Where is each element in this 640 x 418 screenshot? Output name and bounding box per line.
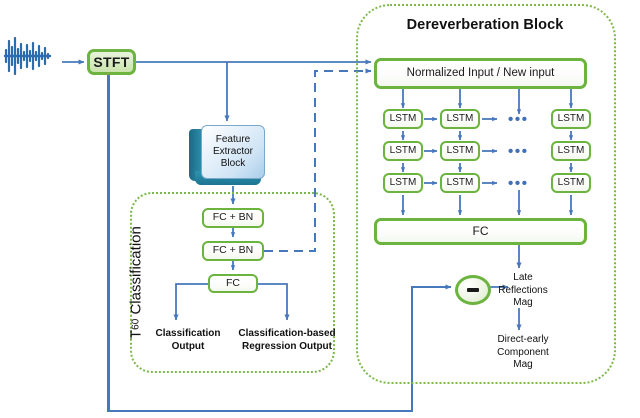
classification-output-line-1: Classification (136, 328, 240, 341)
feature-extractor-front-face: Feature Extractor Block (201, 125, 265, 179)
diagram-canvas: STFT Feature Extractor Block Normalized … (0, 0, 640, 418)
lstm-label: LSTM (558, 146, 585, 157)
lstm-label: LSTM (558, 178, 585, 189)
fc-bn-2-label: FC + BN (213, 245, 254, 256)
regression-output-line-2: Regression Output (232, 341, 342, 354)
fc-bn-1-label: FC + BN (213, 212, 254, 223)
feature-extractor-line-3: Block (221, 158, 245, 170)
regression-output-line-1: Classification-based (232, 328, 342, 341)
fc-classification-label: FC (226, 278, 240, 289)
late-reflections-line-3: Mag (480, 297, 566, 310)
stft-label: STFT (93, 55, 129, 70)
lstm-label: LSTM (558, 114, 585, 125)
lstm-node-r1c1[interactable]: LSTM (383, 109, 423, 129)
lstm-label: LSTM (390, 114, 417, 125)
dereverberation-block-title: Dereverberation Block (380, 16, 590, 34)
lstm-label: LSTM (447, 146, 474, 157)
lstm-node-r3c1[interactable]: LSTM (383, 173, 423, 193)
feature-extractor-line-2: Extractor (213, 146, 253, 158)
fc-dereverberation-label: FC (473, 225, 489, 238)
ellipsis-row-1: ••• (508, 111, 529, 128)
feature-extractor-line-1: Feature (216, 134, 250, 146)
lstm-label: LSTM (390, 178, 417, 189)
direct-early-line-1: Direct-early (480, 334, 566, 347)
fc-dereverberation-node[interactable]: FC (374, 218, 587, 245)
fc-classification-node[interactable]: FC (208, 274, 258, 293)
lstm-node-r2c2[interactable]: LSTM (440, 141, 480, 161)
feature-extractor-block-node[interactable]: Feature Extractor Block (189, 125, 265, 185)
lstm-node-r2c1[interactable]: LSTM (383, 141, 423, 161)
lstm-node-r1cN[interactable]: LSTM (551, 109, 591, 129)
late-reflections-line-2: Reflections (480, 285, 566, 298)
lstm-node-r3c2[interactable]: LSTM (440, 173, 480, 193)
lstm-label: LSTM (447, 178, 474, 189)
normalized-input-node[interactable]: Normalized Input / New input (374, 58, 587, 89)
audio-waveform-icon (3, 36, 63, 76)
t60-classification-title-text: T60 Classification (128, 226, 147, 339)
lstm-node-r2cN[interactable]: LSTM (551, 141, 591, 161)
lstm-label: LSTM (390, 146, 417, 157)
lstm-label: LSTM (447, 114, 474, 125)
fc-bn-node-1[interactable]: FC + BN (202, 208, 264, 228)
classification-output-label: Classification Output (136, 328, 240, 353)
late-reflections-mag-label: Late Reflections Mag (480, 272, 566, 310)
stft-node[interactable]: STFT (87, 49, 136, 75)
direct-early-line-2: Component (480, 347, 566, 360)
ellipsis-row-2: ••• (508, 143, 529, 160)
normalized-input-label: Normalized Input / New input (407, 67, 555, 79)
classification-output-line-2: Output (136, 341, 240, 354)
direct-early-component-mag-label: Direct-early Component Mag (480, 334, 566, 372)
lstm-node-r3cN[interactable]: LSTM (551, 173, 591, 193)
regression-output-label: Classification-based Regression Output (232, 328, 342, 353)
ellipsis-row-3: ••• (508, 175, 529, 192)
lstm-node-r1c2[interactable]: LSTM (440, 109, 480, 129)
late-reflections-line-1: Late (480, 272, 566, 285)
fc-bn-node-2[interactable]: FC + BN (202, 241, 264, 261)
direct-early-line-3: Mag (480, 359, 566, 372)
